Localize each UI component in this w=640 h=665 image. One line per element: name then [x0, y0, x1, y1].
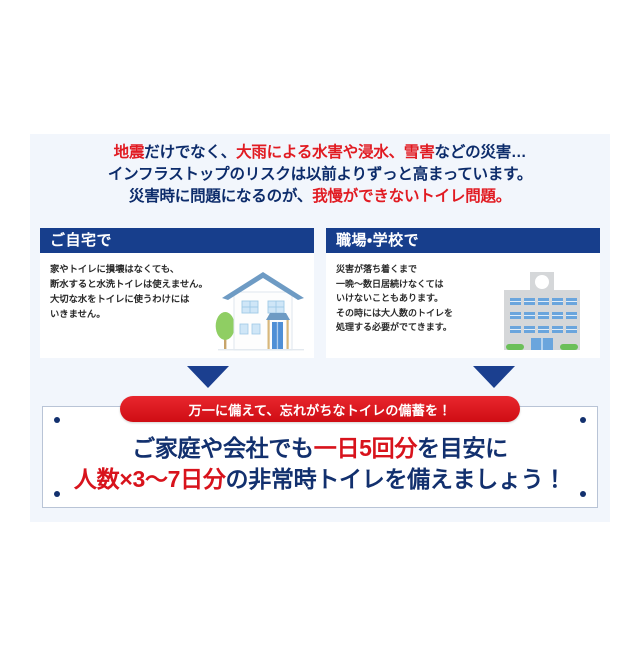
- callout-banner-text: 万一に備えて、忘れがちなトイレの備蓄を！: [189, 400, 452, 419]
- panel-school-header: 職場・学校で: [326, 228, 600, 253]
- panel-school-line-3: いけないこともあります。: [336, 291, 504, 306]
- text-run-navy: を目安に: [417, 435, 508, 461]
- panel-workplace-school: 職場・学校で 災害が落ち着くまで 一晩〜数日居続けなくては いけないこともありま…: [326, 228, 600, 358]
- screw-dot-top-right: [580, 417, 586, 423]
- panel-home: ご自宅で 家やトイレに損壊はなくても、 断水すると水洗トイレは使えません。 大切…: [40, 228, 314, 358]
- panel-home-line-1: 家やトイレに損壊はなくても、: [50, 262, 218, 277]
- text-run-red: 大雨による水害や浸水、雪害: [236, 144, 434, 161]
- text-run-red: 我慢ができないトイレ問題。: [312, 188, 511, 205]
- text-run-navy: だけでなく、: [144, 144, 236, 161]
- poster-canvas: 地震だけでなく、大雨による水害や浸水、雪害などの災害… インフラストップのリスク…: [30, 134, 610, 522]
- screw-dot-top-left: [54, 417, 60, 423]
- down-arrow-left-icon: [187, 366, 229, 388]
- headline-line-2: インフラストップのリスクは以前よりずっと高まっています。: [30, 164, 610, 186]
- text-run-navy: インフラストップのリスクは以前よりずっと高まっています。: [108, 166, 532, 183]
- down-arrow-right-icon: [473, 366, 515, 388]
- school-building-illustration: [494, 266, 590, 358]
- panel-school-line-5: 処理する必要がでてきます。: [336, 320, 504, 335]
- headline-block: 地震だけでなく、大雨による水害や浸水、雪害などの災害… インフラストップのリスク…: [30, 142, 610, 208]
- house-illustration: [212, 266, 308, 358]
- text-run-red: 一日5回分: [314, 435, 417, 461]
- panel-home-line-3: 大切な水をトイレに使うわけには: [50, 292, 218, 307]
- headline-line-1: 地震だけでなく、大雨による水害や浸水、雪害などの災害…: [30, 142, 610, 164]
- text-run-navy: ご家庭や会社でも: [132, 435, 314, 461]
- panel-school-line-2: 一晩〜数日居続けなくては: [336, 277, 504, 292]
- text-run-navy: の非常時トイレを備えましょう！: [226, 466, 567, 492]
- text-run-navy: などの災害…: [435, 144, 527, 161]
- callout-banner: 万一に備えて、忘れがちなトイレの備蓄を！: [120, 396, 520, 422]
- headline-line-3: 災害時に問題になるのが、我慢ができないトイレ問題。: [30, 186, 610, 208]
- panel-home-body: 家やトイレに損壊はなくても、 断水すると水洗トイレは使えません。 大切な水をトイ…: [40, 253, 314, 358]
- panel-school-line-1: 災害が落ち着くまで: [336, 262, 504, 277]
- panel-home-line-2: 断水すると水洗トイレは使えません。: [50, 277, 218, 292]
- signboard-text: ご家庭や会社でも一日5回分を目安に 人数×3〜7日分の非常時トイレを備えましょう…: [43, 433, 597, 495]
- text-run-red: 人数×3〜7日分: [74, 466, 226, 492]
- panel-school-title: 職場・学校で: [336, 233, 419, 248]
- panel-home-header: ご自宅で: [40, 228, 314, 253]
- panel-home-text: 家やトイレに損壊はなくても、 断水すると水洗トイレは使えません。 大切な水をトイ…: [50, 262, 218, 322]
- text-run-red: 地震: [114, 144, 145, 161]
- panel-school-text: 災害が落ち着くまで 一晩〜数日居続けなくては いけないこともあります。 その時に…: [336, 262, 504, 335]
- panel-school-body: 災害が落ち着くまで 一晩〜数日居続けなくては いけないこともあります。 その時に…: [326, 253, 600, 358]
- info-panels: ご自宅で 家やトイレに損壊はなくても、 断水すると水洗トイレは使えません。 大切…: [40, 228, 600, 358]
- signboard-line-2: 人数×3〜7日分の非常時トイレを備えましょう！: [43, 464, 597, 495]
- panel-home-title: ご自宅で: [50, 233, 112, 248]
- text-run-navy: 災害時に問題になるのが、: [129, 188, 312, 205]
- panel-school-line-4: その時には大人数のトイレを: [336, 306, 504, 321]
- signboard-line-1: ご家庭や会社でも一日5回分を目安に: [43, 433, 597, 464]
- panel-home-line-4: いきません。: [50, 307, 218, 322]
